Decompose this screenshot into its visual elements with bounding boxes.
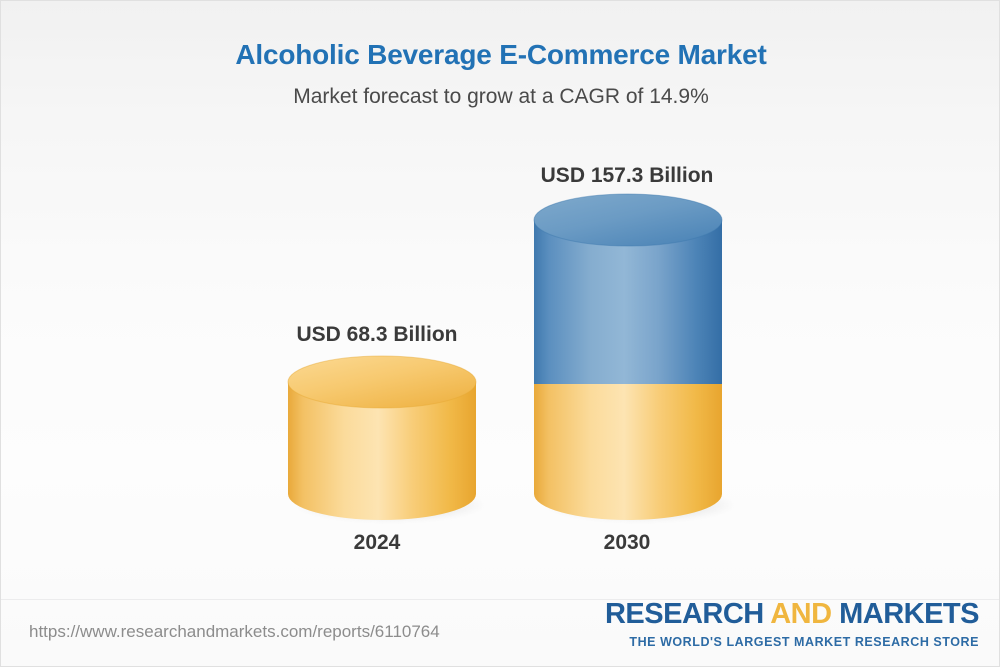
- brand-name-and: AND: [770, 598, 831, 630]
- brand-name: RESEARCH AND MARKETS: [605, 600, 979, 629]
- cylinder-2030: [501, 1, 753, 601]
- bar-group-2024: USD 68.3 Billion: [251, 1, 503, 601]
- brand-tagline: THE WORLD'S LARGEST MARKET RESEARCH STOR…: [605, 636, 979, 649]
- cylinder-2024: [251, 1, 503, 601]
- category-label-2024: 2024: [251, 531, 503, 555]
- category-label-2030: 2030: [501, 531, 753, 555]
- brand-logo: RESEARCH AND MARKETS THE WORLD'S LARGEST…: [605, 600, 979, 649]
- market-infographic: Alcoholic Beverage E-Commerce Market Mar…: [0, 0, 1000, 667]
- chart-plot-area: USD 68.3 Billion: [1, 1, 1000, 601]
- cylinder-base-segment-2030: [534, 384, 722, 520]
- brand-name-markets: MARKETS: [832, 598, 979, 630]
- brand-name-research: RESEARCH: [605, 598, 770, 630]
- bar-group-2030: USD 157.3 Billion: [501, 1, 753, 601]
- source-url-link[interactable]: https://www.researchandmarkets.com/repor…: [29, 622, 440, 642]
